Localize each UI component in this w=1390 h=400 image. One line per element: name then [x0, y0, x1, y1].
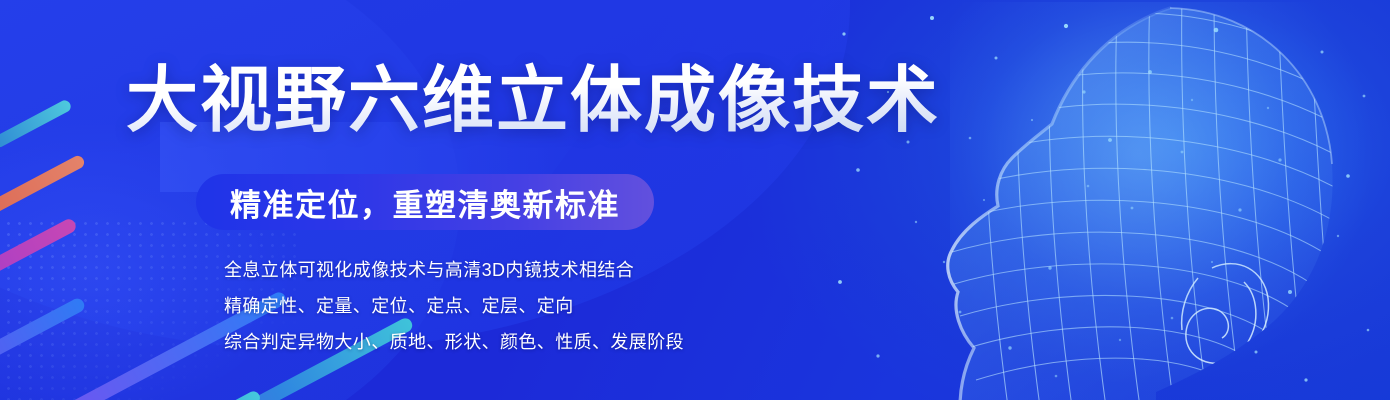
page-title: 大视野六维立体成像技术	[126, 62, 940, 140]
subtitle-text: 精准定位，重塑清奥新标准	[230, 180, 620, 225]
wireframe-head-profile	[840, 0, 1390, 400]
subtitle-pill: 精准定位，重塑清奥新标准	[196, 174, 654, 230]
body-line-2: 精确定性、定量、定位、定点、定层、定向	[224, 288, 684, 324]
head-glow	[950, 2, 1370, 382]
body-line-1: 全息立体可视化成像技术与高清3D内镜技术相结合	[224, 252, 684, 288]
promo-banner: 大视野六维立体成像技术 精准定位，重塑清奥新标准 全息立体可视化成像技术与高清3…	[0, 0, 1390, 400]
body-copy: 全息立体可视化成像技术与高清3D内镜技术相结合 精确定性、定量、定位、定点、定层…	[224, 252, 684, 360]
body-line-3: 综合判定异物大小、质地、形状、颜色、性质、发展阶段	[224, 324, 684, 360]
